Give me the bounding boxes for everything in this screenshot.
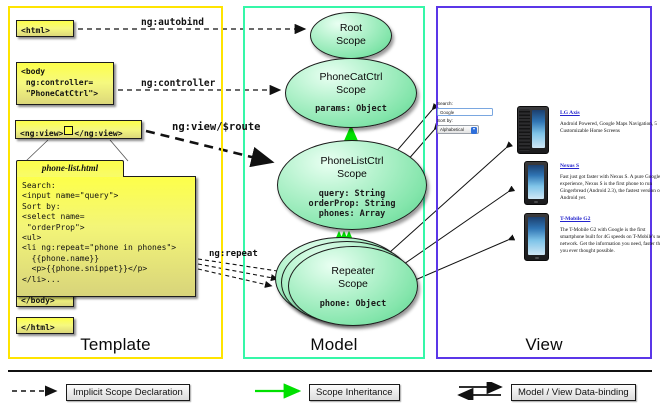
home-button-icon — [534, 201, 538, 203]
keyboard-detail — [519, 109, 530, 151]
phone-search-form: Search: Google Sort by: Alphabetical ▾ — [437, 101, 495, 134]
scope-root-title: Root Scope — [311, 22, 391, 47]
legend-item-implicit-scope-declaration: Implicit Scope Declaration — [10, 382, 190, 401]
ng-view-open-tag: <ng:view> — [20, 129, 63, 138]
phone-name-link-lg-axis[interactable]: LG Axis — [560, 110, 580, 116]
scope-repeater: Repeater Scope phone: Object — [288, 246, 418, 326]
phone-name-link-t-mobile-g2[interactable]: T-Mobile G2 — [560, 216, 590, 222]
screen-detail — [528, 165, 544, 199]
note-filename: phone-list.html — [17, 161, 123, 176]
panel-model-label: Model — [245, 335, 423, 355]
scope-repeater-props: phone: Object — [289, 299, 417, 309]
sort-select[interactable]: Alphabetical ▾ — [437, 125, 479, 134]
code-box-ng-view: <ng:view></ng:view> — [15, 120, 142, 139]
note-code-body: Search: <input name="query"> Sort by: <s… — [16, 176, 196, 297]
home-button-icon — [535, 257, 539, 259]
legend-divider — [8, 370, 652, 372]
search-label: Search: — [437, 101, 495, 107]
sort-select-value: Alphabetical — [440, 127, 464, 132]
scope-phonelistctrl: PhoneListCtrl Scope query: String orderP… — [277, 140, 427, 230]
legend-label-implicit-scope-declaration: Implicit Scope Declaration — [66, 384, 190, 401]
search-input[interactable]: Google — [437, 108, 493, 116]
phone-snippet-nexus-s: Fast just got faster with Nexus S. A pur… — [560, 174, 660, 202]
screen-detail — [528, 217, 545, 255]
connector-label-ng-controller: ng:controller — [141, 78, 215, 89]
note-filename-tab: phone-list.html — [16, 160, 124, 177]
phone-snippet-lg-axis: Android Powered, Google Maps Navigation,… — [560, 121, 660, 135]
connector-label-ng-view-route: ng:view/$route — [172, 121, 261, 133]
diagram-canvas: Template Model View <html> <body ng:cont… — [0, 0, 660, 405]
screen-detail — [532, 110, 545, 148]
panel-view-label: View — [438, 335, 650, 355]
code-box-html-close: </html> — [16, 317, 74, 334]
phone-snippet-t-mobile-g2: The T-Mobile G2 with Google is the first… — [560, 227, 660, 255]
legend-label-model-view-data-binding: Model / View Data-binding — [511, 384, 636, 401]
connector-label-ng-repeat: ng:repeat — [209, 249, 258, 259]
phone-thumbnail-nexus-s — [524, 161, 548, 205]
green-arrow-icon — [253, 382, 311, 400]
sort-label: Sort by: — [437, 118, 495, 124]
scope-root: Root Scope — [310, 12, 392, 59]
legend-item-scope-inheritance: Scope Inheritance — [253, 382, 400, 401]
double-arrow-icon — [455, 382, 513, 400]
chevron-updown-icon: ▾ — [471, 127, 477, 134]
legend-item-model-view-data-binding: Model / View Data-binding — [455, 382, 636, 401]
ng-view-close-tag: </ng:view> — [74, 129, 122, 138]
phone-thumbnail-t-mobile-g2 — [524, 213, 549, 261]
connector-label-ng-autobind: ng:autobind — [141, 17, 204, 28]
scope-phonecatctrl-title: PhoneCatCtrl Scope — [286, 71, 416, 96]
phone-name-link-nexus-s[interactable]: Nexus S — [560, 163, 579, 169]
legend-label-scope-inheritance: Scope Inheritance — [309, 384, 400, 401]
code-box-body-open: <body ng:controller= "PhoneCatCtrl"> — [16, 62, 114, 105]
code-box-html-open: <html> — [16, 20, 74, 37]
scope-phonelistctrl-title: PhoneListCtrl Scope — [278, 155, 426, 180]
panel-template-label: Template — [10, 335, 221, 355]
scope-phonecatctrl-props: params: Object — [286, 104, 416, 114]
phone-thumbnail-lg-axis — [517, 106, 549, 154]
placeholder-square-icon — [64, 126, 73, 135]
dashed-arrow-icon — [10, 382, 68, 400]
scope-phonelistctrl-props: query: String orderProp: String phones: … — [278, 189, 426, 219]
scope-phonecatctrl: PhoneCatCtrl Scope params: Object — [285, 58, 417, 128]
scope-repeater-title: Repeater Scope — [289, 265, 417, 290]
